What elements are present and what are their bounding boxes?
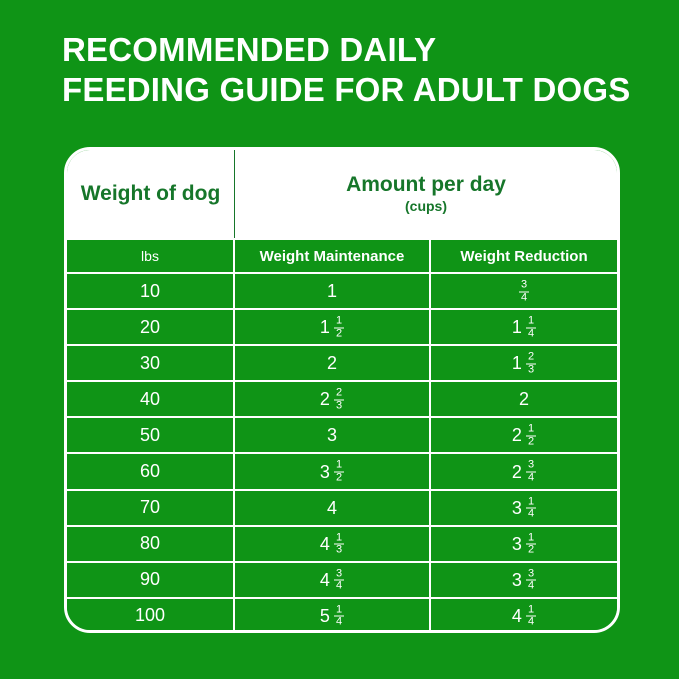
maintenance-amount-denominator: 3: [334, 544, 344, 557]
table-row: 503212: [67, 416, 617, 452]
maintenance-amount-numerator: 1: [334, 316, 344, 328]
feeding-guide-page: RECOMMENDED DAILY FEEDING GUIDE FOR ADUL…: [0, 0, 679, 679]
maintenance-amount: 1: [327, 282, 337, 300]
cell-weight-lbs: 90: [67, 563, 235, 597]
cell-weight-lbs: 40: [67, 382, 235, 416]
table-row: 60312234: [67, 452, 617, 488]
maintenance-amount-whole: 3: [320, 463, 330, 481]
cell-weight-reduction: 314: [431, 491, 617, 525]
table-subheader-row: lbs Weight Maintenance Weight Reduction: [67, 238, 617, 272]
maintenance-amount: 223: [320, 387, 344, 411]
reduction-amount-denominator: 4: [526, 327, 536, 340]
reduction-amount-whole: 1: [512, 318, 522, 336]
maintenance-amount-numerator: 1: [334, 604, 344, 616]
weight-lbs-value: 90: [140, 569, 160, 590]
reduction-amount-numerator: 2: [526, 352, 536, 364]
reduction-amount-fraction: 14: [526, 496, 536, 520]
maintenance-amount-fraction: 13: [334, 532, 344, 556]
header-amount-per-day-units: (cups): [405, 199, 447, 214]
maintenance-amount-whole: 1: [327, 282, 337, 300]
cell-weight-maintenance: 2: [235, 346, 431, 380]
reduction-amount-numerator: 3: [519, 280, 529, 292]
maintenance-amount-whole: 1: [320, 318, 330, 336]
reduction-amount-fraction: 12: [526, 424, 536, 448]
table-row: 100514414: [67, 597, 617, 633]
cell-weight-reduction: 312: [431, 527, 617, 561]
weight-lbs-value: 100: [135, 605, 165, 626]
maintenance-amount-fraction: 12: [334, 316, 344, 340]
maintenance-amount-numerator: 1: [334, 532, 344, 544]
cell-weight-maintenance: 1: [235, 274, 431, 308]
reduction-amount-denominator: 2: [526, 435, 536, 448]
cell-weight-lbs: 100: [67, 599, 235, 633]
cell-weight-reduction: 234: [431, 454, 617, 488]
maintenance-amount-fraction: 12: [334, 460, 344, 484]
table-body: lbs Weight Maintenance Weight Reduction …: [67, 238, 617, 633]
reduction-amount-whole: 3: [512, 535, 522, 553]
reduction-amount-denominator: 4: [526, 616, 536, 629]
maintenance-amount-whole: 5: [320, 607, 330, 625]
weight-lbs-value: 50: [140, 425, 160, 446]
reduction-amount-fraction: 23: [526, 352, 536, 376]
reduction-amount-fraction: 34: [526, 568, 536, 592]
weight-lbs-value: 70: [140, 497, 160, 518]
cell-weight-lbs: 60: [67, 454, 235, 488]
cell-weight-reduction: 212: [431, 418, 617, 452]
reduction-amount-fraction: 14: [526, 604, 536, 628]
cell-weight-reduction: 114: [431, 310, 617, 344]
cell-weight-reduction: 334: [431, 563, 617, 597]
page-title-line-2: FEEDING GUIDE FOR ADULT DOGS: [62, 70, 662, 110]
cell-weight-maintenance: 4: [235, 491, 431, 525]
maintenance-amount-denominator: 2: [334, 327, 344, 340]
reduction-amount: 312: [512, 532, 536, 556]
reduction-amount: 212: [512, 423, 536, 447]
reduction-amount-whole: 2: [519, 390, 529, 408]
weight-lbs-value: 20: [140, 317, 160, 338]
reduction-amount-whole: 1: [512, 354, 522, 372]
maintenance-amount-whole: 4: [320, 571, 330, 589]
reduction-amount-fraction: 34: [519, 280, 529, 304]
reduction-amount-numerator: 1: [526, 424, 536, 436]
cell-weight-maintenance: 112: [235, 310, 431, 344]
maintenance-amount-numerator: 3: [334, 568, 344, 580]
weight-lbs-value: 80: [140, 533, 160, 554]
reduction-amount-denominator: 4: [526, 508, 536, 521]
maintenance-amount-numerator: 1: [334, 460, 344, 472]
page-title: RECOMMENDED DAILY FEEDING GUIDE FOR ADUL…: [62, 30, 662, 111]
cell-weight-reduction: 123: [431, 346, 617, 380]
reduction-amount-numerator: 1: [526, 496, 536, 508]
maintenance-amount: 2: [327, 354, 337, 372]
table-row: 704314: [67, 489, 617, 525]
cell-weight-maintenance: 514: [235, 599, 431, 633]
maintenance-amount-fraction: 23: [334, 388, 344, 412]
reduction-amount: 234: [512, 459, 536, 483]
reduction-amount-fraction: 12: [526, 532, 536, 556]
maintenance-amount-numerator: 2: [334, 388, 344, 400]
cell-weight-maintenance: 434: [235, 563, 431, 597]
maintenance-amount: 434: [320, 568, 344, 592]
cell-weight-maintenance: 312: [235, 454, 431, 488]
reduction-amount: 334: [512, 568, 536, 592]
reduction-amount-whole: 2: [512, 463, 522, 481]
reduction-amount-numerator: 3: [526, 568, 536, 580]
reduction-amount-denominator: 4: [519, 291, 529, 304]
cell-weight-reduction: 34: [431, 274, 617, 308]
reduction-amount: 414: [512, 604, 536, 628]
reduction-amount-numerator: 1: [526, 316, 536, 328]
subheader-weight-reduction: Weight Reduction: [431, 240, 617, 272]
reduction-amount: 34: [519, 279, 529, 303]
reduction-amount-fraction: 14: [526, 316, 536, 340]
reduction-amount-whole: 3: [512, 499, 522, 517]
table-row: 402232: [67, 380, 617, 416]
table-header-panel: Weight of dog Amount per day (cups): [67, 150, 617, 238]
reduction-amount: 114: [512, 315, 536, 339]
cell-weight-reduction: 414: [431, 599, 617, 633]
header-amount-per-day-label: Amount per day: [346, 173, 506, 196]
maintenance-amount-denominator: 4: [334, 616, 344, 629]
subheader-lbs: lbs: [67, 240, 235, 272]
reduction-amount: 123: [512, 351, 536, 375]
reduction-amount-whole: 3: [512, 571, 522, 589]
cell-weight-lbs: 20: [67, 310, 235, 344]
cell-weight-lbs: 50: [67, 418, 235, 452]
cell-weight-lbs: 10: [67, 274, 235, 308]
cell-weight-maintenance: 3: [235, 418, 431, 452]
maintenance-amount: 4: [327, 499, 337, 517]
reduction-amount: 314: [512, 496, 536, 520]
reduction-amount: 2: [519, 390, 529, 408]
reduction-amount-denominator: 4: [526, 472, 536, 485]
maintenance-amount: 514: [320, 604, 344, 628]
reduction-amount-whole: 4: [512, 607, 522, 625]
weight-lbs-value: 40: [140, 389, 160, 410]
weight-lbs-value: 30: [140, 353, 160, 374]
reduction-amount-denominator: 4: [526, 580, 536, 593]
header-amount-per-day: Amount per day (cups): [235, 150, 617, 238]
maintenance-amount: 3: [327, 426, 337, 444]
cell-weight-lbs: 70: [67, 491, 235, 525]
subheader-weight-maintenance: Weight Maintenance: [235, 240, 431, 272]
reduction-amount-numerator: 3: [526, 460, 536, 472]
table-row: 90434334: [67, 561, 617, 597]
maintenance-amount-whole: 2: [327, 354, 337, 372]
maintenance-amount-whole: 4: [320, 535, 330, 553]
maintenance-amount-denominator: 2: [334, 472, 344, 485]
maintenance-amount-whole: 3: [327, 426, 337, 444]
table-row: 10134: [67, 272, 617, 308]
maintenance-amount-fraction: 14: [334, 604, 344, 628]
maintenance-amount: 312: [320, 459, 344, 483]
maintenance-amount-denominator: 3: [334, 399, 344, 412]
maintenance-amount: 112: [320, 315, 344, 339]
maintenance-amount-fraction: 34: [334, 568, 344, 592]
page-title-line-1: RECOMMENDED DAILY: [62, 30, 662, 70]
reduction-amount-whole: 2: [512, 426, 522, 444]
maintenance-amount-whole: 2: [320, 390, 330, 408]
cell-weight-lbs: 30: [67, 346, 235, 380]
table-row: 302123: [67, 344, 617, 380]
maintenance-amount: 413: [320, 532, 344, 556]
weight-lbs-value: 60: [140, 461, 160, 482]
cell-weight-maintenance: 223: [235, 382, 431, 416]
reduction-amount-denominator: 3: [526, 363, 536, 376]
weight-lbs-value: 10: [140, 281, 160, 302]
cell-weight-maintenance: 413: [235, 527, 431, 561]
maintenance-amount-whole: 4: [327, 499, 337, 517]
reduction-amount-denominator: 2: [526, 544, 536, 557]
maintenance-amount-denominator: 4: [334, 580, 344, 593]
table-row: 20112114: [67, 308, 617, 344]
reduction-amount-fraction: 34: [526, 460, 536, 484]
cell-weight-lbs: 80: [67, 527, 235, 561]
reduction-amount-numerator: 1: [526, 604, 536, 616]
feeding-guide-table: Weight of dog Amount per day (cups) lbs …: [64, 147, 620, 633]
reduction-amount-numerator: 1: [526, 532, 536, 544]
cell-weight-reduction: 2: [431, 382, 617, 416]
header-weight-of-dog: Weight of dog: [67, 150, 235, 238]
table-row: 80413312: [67, 525, 617, 561]
